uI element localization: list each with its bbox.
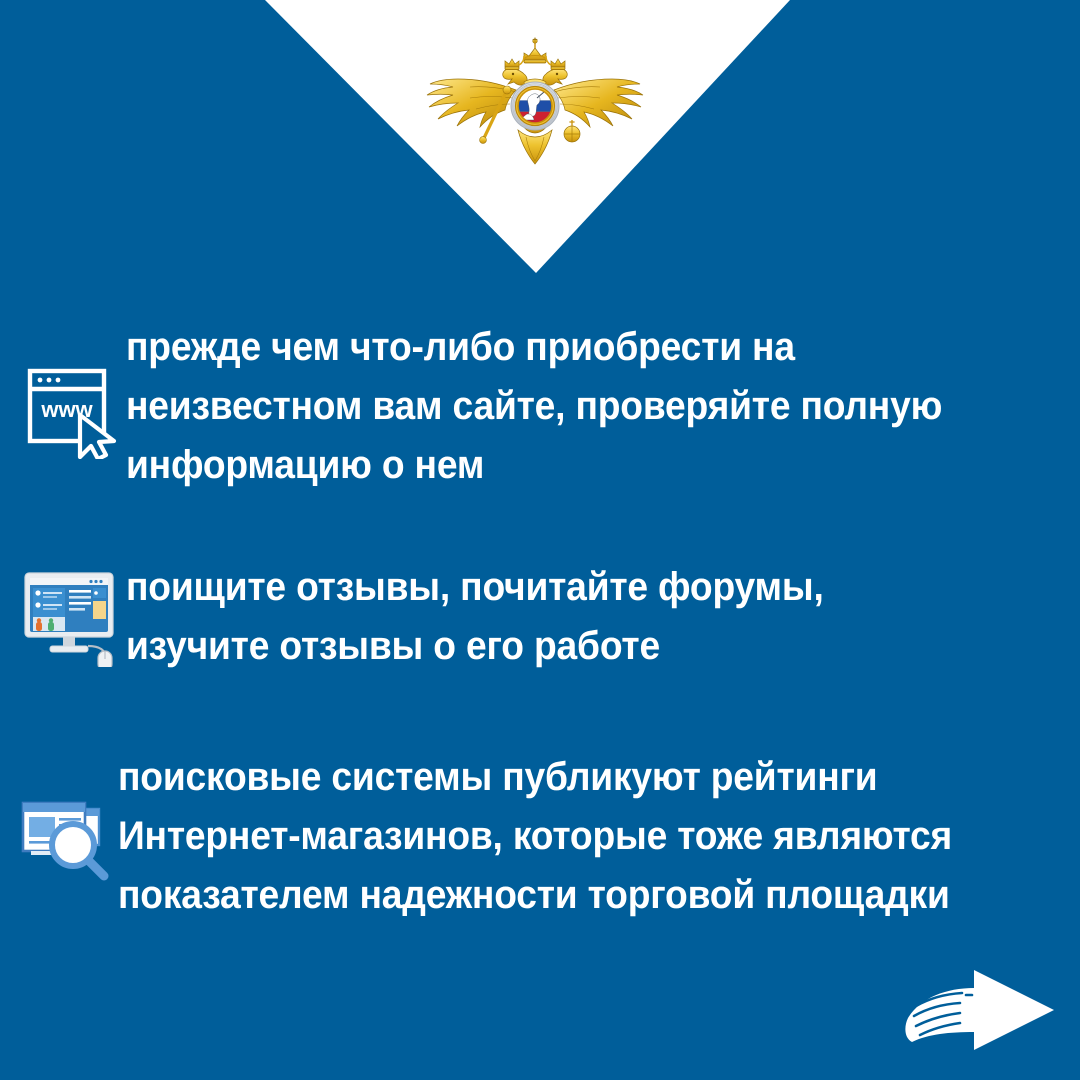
emblem-medallion — [518, 89, 552, 123]
emblem-left-crown — [505, 59, 519, 70]
emblem-right-head — [543, 69, 567, 85]
tip-row-3: поисковые системы публикуют рейтинги Инт… — [6, 748, 1080, 925]
tip-text-2: поищите отзывы, почитайте форумы, изучит… — [126, 558, 1056, 676]
tip-row-2: поищите отзывы, почитайте форумы, изучит… — [14, 558, 1080, 676]
tip-row-1: www прежде чем что-либо приобрести на не… — [14, 318, 1080, 495]
emblem-right-wing — [554, 79, 643, 127]
tip-text-1: прежде чем что-либо приобрести на неизве… — [126, 318, 1056, 495]
emblem-orb — [564, 120, 580, 142]
cursor-arrow-icon — [80, 415, 114, 459]
swipe-next-arrow-icon[interactable] — [888, 962, 1066, 1058]
emblem-left-wing — [427, 79, 516, 127]
emblem-tail — [518, 130, 552, 164]
poster-canvas: www прежде чем что-либо приобрести на не… — [0, 0, 1080, 1080]
tip-text-3: поисковые системы публикуют рейтинги Инт… — [118, 748, 1057, 925]
emblem-center-crown — [524, 37, 546, 63]
search-magnifier-webpages-icon — [6, 785, 118, 889]
russian-mvd-double-headed-eagle-emblem — [420, 34, 650, 169]
emblem-left-head — [503, 69, 527, 85]
browser-window-www-cursor-icon: www — [14, 355, 126, 459]
emblem-right-crown — [551, 59, 565, 70]
desktop-monitor-reviews-icon — [14, 567, 126, 667]
mvd-emblem — [420, 34, 650, 169]
